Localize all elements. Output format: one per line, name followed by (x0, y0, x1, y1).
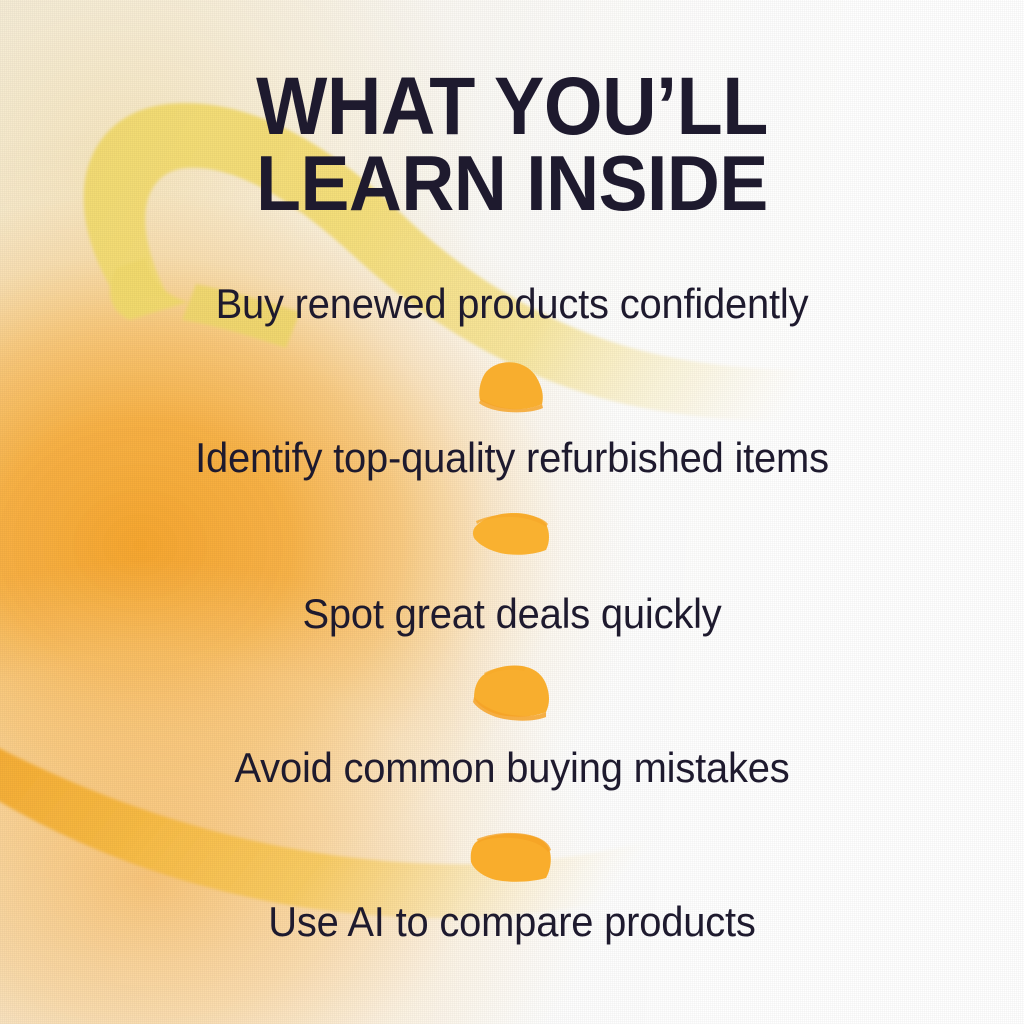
promo-card-canvas: WHAT YOU’LL LEARN INSIDE Buy renewed pro… (0, 0, 1024, 1024)
divider-blob-2 (464, 660, 560, 722)
list-item-2: Spot great deals quickly (26, 593, 999, 635)
card-content: WHAT YOU’LL LEARN INSIDE Buy renewed pro… (0, 0, 1024, 1024)
page-title-line-2: LEARN INSIDE (31, 147, 994, 220)
list-item-1: Identify top-quality refurbished items (26, 437, 999, 479)
list-item-4: Use AI to compare products (26, 901, 999, 943)
divider-blob-0 (464, 358, 560, 414)
page-title-line-1: WHAT YOU’LL (41, 68, 983, 145)
page-title: WHAT YOU’LL LEARN INSIDE (0, 68, 1024, 220)
list-item-3: Avoid common buying mistakes (26, 747, 999, 789)
list-item-0: Buy renewed products confidently (26, 283, 999, 325)
divider-blob-3 (462, 828, 562, 884)
divider-blob-1 (464, 508, 560, 560)
